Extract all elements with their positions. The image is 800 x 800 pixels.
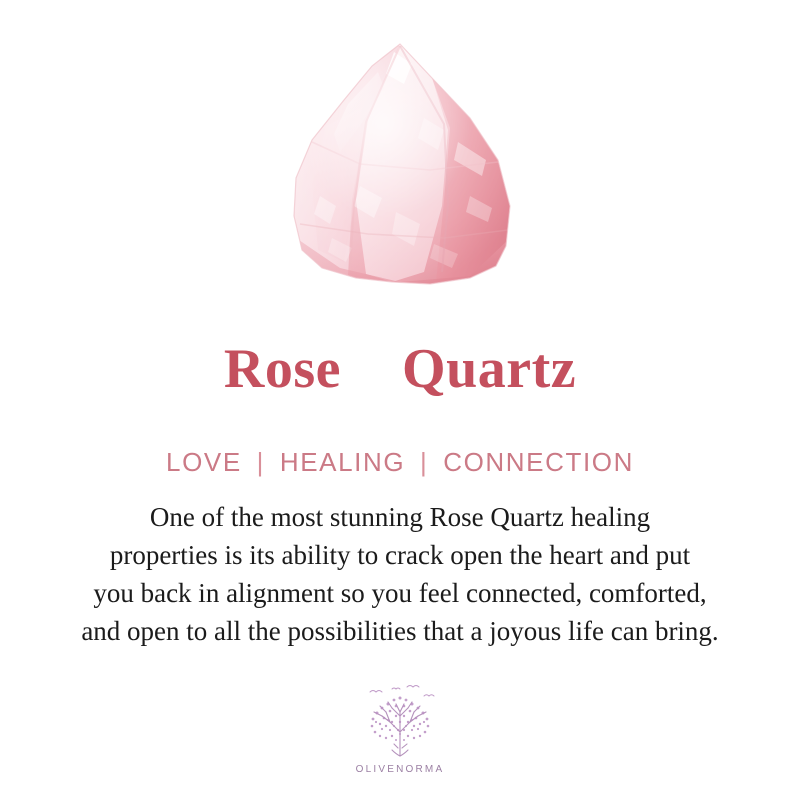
description-line: you back in alignment so you feel connec… — [30, 574, 770, 612]
hero-image-area — [0, 0, 800, 320]
crystal-body — [280, 30, 530, 300]
page-title: Rose Quartz — [0, 336, 800, 402]
keyword-tagline: LOVE | HEALING | CONNECTION — [0, 446, 800, 478]
description-line: One of the most stunning Rose Quartz hea… — [30, 498, 770, 536]
brand-name: OLIVENORMA — [0, 764, 800, 775]
description-line: properties is its ability to crack open … — [30, 536, 770, 574]
brand-logo: OLIVENORMA — [0, 678, 800, 775]
keyword-connection: CONNECTION — [443, 447, 634, 477]
rose-quartz-crystal-image — [0, 0, 800, 320]
tree-icon — [352, 678, 448, 762]
description-text: One of the most stunning Rose Quartz hea… — [30, 498, 770, 650]
description-line: and open to all the possibilities that a… — [30, 612, 770, 650]
keyword-separator-2: | — [414, 447, 434, 477]
keyword-healing: HEALING — [280, 447, 405, 477]
rose-quartz-product-card: Rose Quartz LOVE | HEALING | CONNECTION … — [0, 0, 800, 800]
keyword-love: LOVE — [166, 447, 242, 477]
keyword-separator-1: | — [251, 447, 271, 477]
